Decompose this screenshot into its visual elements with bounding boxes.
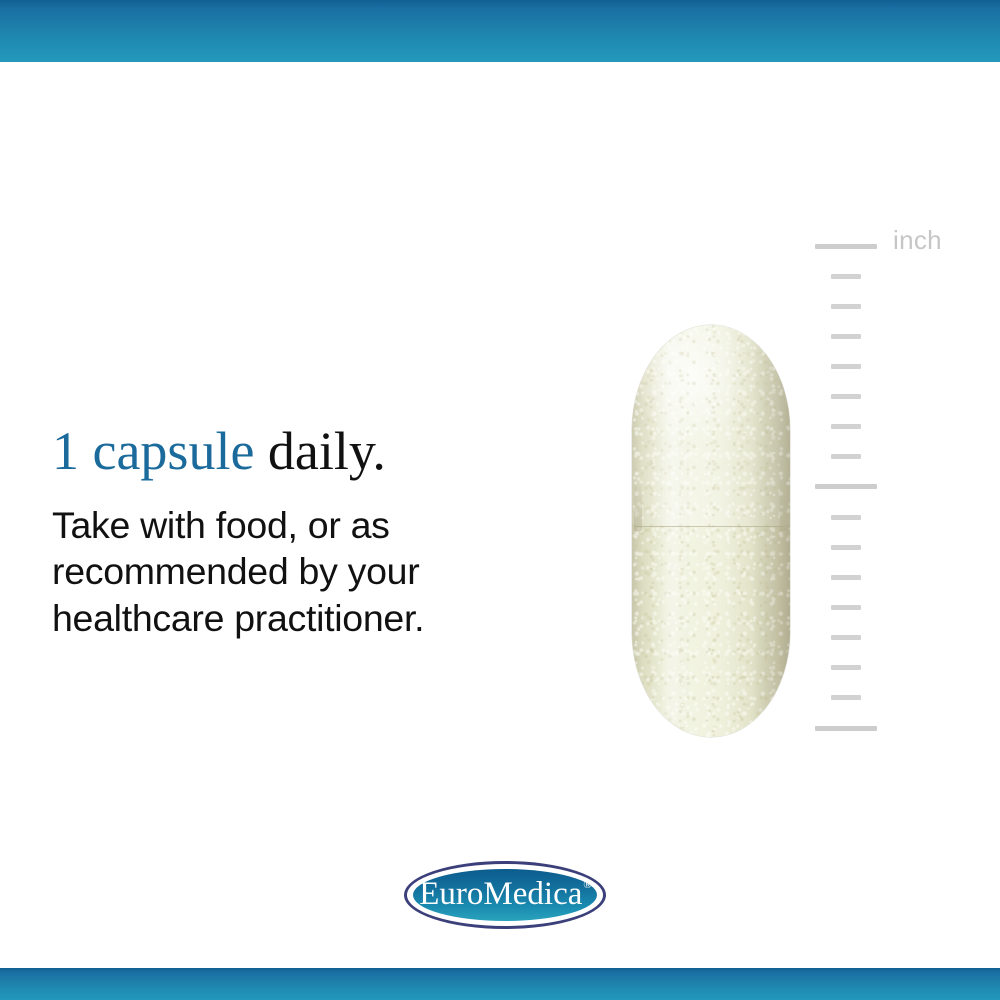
capsule-cap-half <box>632 325 790 527</box>
ruler-tick-minor <box>831 454 861 459</box>
page-title: 1 capsule daily. <box>52 423 482 480</box>
ruler-tick-minor <box>831 394 861 399</box>
ruler-tick-minor <box>831 665 861 670</box>
ruler-tick-minor <box>831 364 861 369</box>
ruler-tick-minor <box>831 515 861 520</box>
ruler-tick-minor <box>831 304 861 309</box>
headline-rest-text: daily. <box>254 421 385 481</box>
dosage-copy-block: 1 capsule daily. Take with food, or as r… <box>52 423 482 641</box>
ruler-tick-major <box>815 484 877 489</box>
ruler-tick-minor <box>831 695 861 700</box>
capsule-image <box>632 325 790 737</box>
top-brand-bar <box>0 0 1000 62</box>
capsule-cap-edge-right <box>780 475 788 531</box>
headline-accent-text: 1 capsule <box>52 421 254 481</box>
ruler-tick-minor <box>831 334 861 339</box>
inch-ruler: inch <box>815 244 965 736</box>
capsule-shape <box>632 325 790 737</box>
ruler-tick-minor <box>831 274 861 279</box>
ruler-tick-minor <box>831 605 861 610</box>
registered-trademark-icon: ® <box>583 879 591 891</box>
ruler-tick-major <box>815 244 877 249</box>
ruler-tick-major <box>815 726 877 731</box>
bottom-brand-bar <box>0 968 1000 1000</box>
logo-inner-oval: EuroMedica® <box>413 869 597 921</box>
ruler-tick-minor <box>831 545 861 550</box>
logo-wordmark-text: EuroMedica <box>419 876 582 912</box>
euromedica-logo: EuroMedica® <box>404 861 606 929</box>
ruler-unit-label: inch <box>893 227 942 253</box>
ruler-tick-minor <box>831 424 861 429</box>
ruler-tick-minor <box>831 575 861 580</box>
capsule-cap-edge-left <box>634 475 642 531</box>
dosage-instructions-text: Take with food, or as recommended by you… <box>52 480 432 642</box>
logo-wordmark: EuroMedica® <box>419 878 590 911</box>
ruler-tick-minor <box>831 635 861 640</box>
